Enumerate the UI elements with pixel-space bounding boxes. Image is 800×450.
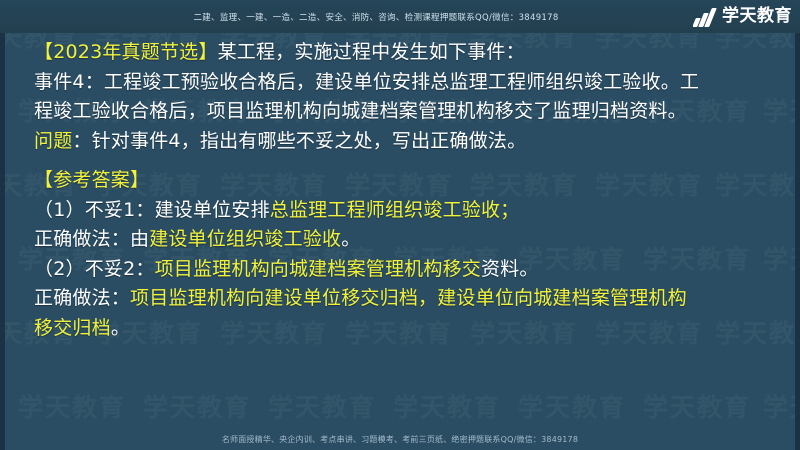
watermark-text: 学天教育: [143, 388, 251, 424]
watermark-text: 学天教育: [763, 388, 800, 424]
text-segment: （1）不妥1：建设单位安排: [34, 199, 270, 221]
text-segment: 程竣工验收合格后，项目监理机构向城建档案管理机构移交了监理归档资料。: [34, 100, 687, 122]
watermark-text: 学天教育: [18, 388, 126, 424]
text-segment: 项目监理机构向城建档案管理机构移交: [155, 258, 481, 280]
text-segment: 移交归档: [34, 317, 111, 339]
watermark-text: 学天教育: [393, 388, 501, 424]
text-segment: 某工程，实施过程中发生如下事件：: [218, 41, 525, 63]
text-line-event-4-line-1: 事件4：工程竣工预验收合格后，建设单位安排总监理工程师组织竣工验收。工: [34, 68, 774, 98]
text-segment: 资料。: [481, 258, 539, 280]
text-segment: 【参考答案】: [34, 169, 149, 191]
logo-text: 学天教育: [722, 6, 792, 27]
text-line-answer-2-correction-line-1: 正确做法：项目监理机构向建设单位移交归档，建设单位向城建档案管理机构: [34, 284, 774, 314]
text-line-answer-2-correction-line-2: 移交归档。: [34, 314, 774, 344]
slide-canvas: 学天教育学天教育学天教育学天教育学天教育学天教育学天教育学天教育学天教育学天教育…: [0, 0, 800, 450]
header-promo-text: 二建、监理、一建、一造、二造、安全、消防、咨询、检测课程押题联系QQ/微信：38…: [193, 11, 558, 23]
text-segment: 【2023年真题节选】: [34, 41, 218, 63]
brand-logo: 学天教育: [693, 4, 792, 29]
text-line-answer-2-issue: （2）不妥2：项目监理机构向城建档案管理机构移交资料。: [34, 255, 774, 285]
text-line-answer-1-correction: 正确做法：由建设单位组织竣工验收。: [34, 225, 774, 255]
text-line-event-4-line-2: 程竣工验收合格后，项目监理机构向城建档案管理机构移交了监理归档资料。: [34, 97, 774, 127]
text-line-answer-heading: 【参考答案】: [34, 166, 774, 196]
text-segment: 。: [341, 228, 360, 250]
text-segment: 项目监理机构向建设单位移交归档，建设单位向城建档案管理机构: [130, 287, 687, 309]
logo-slash-icon: [693, 6, 719, 27]
header-bar: 二建、监理、一建、一造、二造、安全、消防、咨询、检测课程押题联系QQ/微信：38…: [0, 0, 800, 33]
watermark-text: 学天教育: [643, 388, 751, 424]
text-segment: 事件4：工程竣工预验收合格后，建设单位安排总监理工程师组织竣工验收。工: [34, 71, 699, 93]
watermark-text: 学天教育: [518, 388, 626, 424]
watermark-text: 学天教育: [268, 388, 376, 424]
slide-body-text: 【2023年真题节选】某工程，实施过程中发生如下事件：事件4：工程竣工预验收合格…: [34, 38, 774, 343]
text-segment: ：针对事件4，指出有哪些不妥之处，写出正确做法。: [72, 130, 526, 152]
left-edge-band: [0, 0, 5, 450]
text-line-question-intro: 【2023年真题节选】某工程，实施过程中发生如下事件：: [34, 38, 774, 68]
right-edge-band: [795, 0, 800, 450]
text-segment: 正确做法：: [34, 287, 130, 309]
text-segment: 建设单位组织竣工验收: [149, 228, 341, 250]
footer-promo-text: 名师面授精华、央企内训、考点串讲、习题模考、考前三页纸、绝密押题联系QQ/微信：…: [222, 434, 578, 445]
text-segment: 问题: [34, 130, 72, 152]
text-segment: 。: [111, 317, 130, 339]
text-segment: 总监理工程师组织竣工验收；: [270, 199, 520, 221]
text-line-question-prompt: 问题：针对事件4，指出有哪些不妥之处，写出正确做法。: [34, 127, 774, 157]
text-segment: （2）不妥2：: [34, 258, 155, 280]
text-segment: 正确做法：由: [34, 228, 149, 250]
footer-bar: 名师面授精华、央企内训、考点串讲、习题模考、考前三页纸、绝密押题联系QQ/微信：…: [0, 428, 800, 450]
text-line-answer-1-issue: （1）不妥1：建设单位安排总监理工程师组织竣工验收；: [34, 196, 774, 226]
